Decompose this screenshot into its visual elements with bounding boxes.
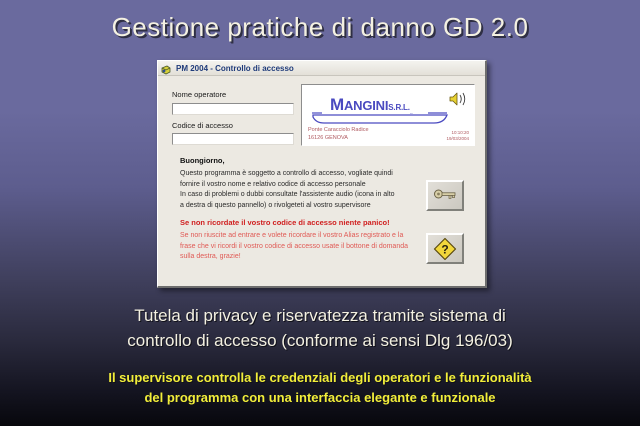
app-icon bbox=[161, 63, 172, 74]
company-logo-text: MANGINIS.R.L.... bbox=[330, 95, 412, 115]
logo-tiny: ... bbox=[410, 110, 413, 115]
access-code-input[interactable] bbox=[172, 133, 294, 145]
clock-date: 19/03/2004 bbox=[446, 136, 469, 142]
address-line-1: Ponte Caracciolo Radice bbox=[308, 127, 369, 134]
caption-sub-line-2: del programma con una interfaccia elegan… bbox=[0, 388, 640, 408]
login-key-button[interactable] bbox=[426, 180, 464, 211]
logo-main: ANGINI bbox=[344, 98, 388, 113]
access-code-label: Codice di accesso bbox=[172, 121, 294, 130]
slide-caption-primary: Tutela di privacy e riservatezza tramite… bbox=[0, 304, 640, 353]
dialog-title-text: PM 2004 - Controllo di accesso bbox=[176, 64, 294, 73]
dialog-titlebar[interactable]: PM 2004 - Controllo di accesso bbox=[158, 61, 485, 76]
operator-name-input[interactable] bbox=[172, 103, 294, 115]
dialog-body: Nome operatore Codice di accesso MANGINI… bbox=[158, 76, 485, 285]
company-address: Ponte Caracciolo Radice 16126 GENOVA bbox=[308, 127, 369, 142]
caption-sub-line-1: Il supervisore controlla le credenziali … bbox=[0, 368, 640, 388]
credentials-form: Nome operatore Codice di accesso bbox=[172, 90, 294, 151]
caption-main-line-2: controllo di accesso (conforme ai sensi … bbox=[0, 329, 640, 354]
clock-display: 10:10:20 19/03/2004 bbox=[446, 130, 469, 142]
forgot-code-warning-block: Se non ricordate il vostro codice di acc… bbox=[180, 218, 430, 263]
warning-line-3: sulla destra, grazie! bbox=[180, 252, 430, 263]
help-question-button[interactable]: ? bbox=[426, 233, 464, 264]
svg-text:?: ? bbox=[441, 242, 448, 256]
key-icon bbox=[433, 187, 457, 205]
info-line-3: In caso di problemi o dubbi consultate l… bbox=[180, 190, 428, 201]
warning-line-2: frase che vi ricordi il vostro codice di… bbox=[180, 242, 430, 253]
info-line-4: a destra di questo pannello) o rivolgete… bbox=[180, 201, 428, 212]
slide-headline: Gestione pratiche di danno GD 2.0 bbox=[0, 12, 640, 43]
info-line-2: fornire il vostro nome e relativo codice… bbox=[180, 180, 428, 191]
warning-line-1: Se non riuscite ad entrare e volete rico… bbox=[180, 231, 430, 242]
slide-caption-secondary: Il supervisore controlla le credenziali … bbox=[0, 368, 640, 407]
company-logo-mark: MANGINIS.R.L.... bbox=[310, 93, 450, 125]
logo-initial: M bbox=[330, 95, 344, 114]
warning-body: Se non riuscite ad entrare e volete rico… bbox=[180, 231, 430, 263]
operator-name-label: Nome operatore bbox=[172, 90, 294, 99]
greeting-heading: Buongiorno, bbox=[180, 156, 428, 165]
info-line-1: Questo programma è soggetto a controllo … bbox=[180, 169, 428, 180]
greeting-info-block: Buongiorno, Questo programma è soggetto … bbox=[180, 156, 428, 211]
address-line-2: 16126 GENOVA bbox=[308, 135, 369, 142]
presentation-slide: Gestione pratiche di danno GD 2.0 PM 200… bbox=[0, 0, 640, 426]
speaker-icon[interactable] bbox=[448, 90, 468, 108]
help-question-icon: ? bbox=[433, 237, 457, 261]
company-logo-panel: MANGINIS.R.L.... Ponte Caracciolo Radice… bbox=[301, 84, 475, 146]
login-dialog-window: PM 2004 - Controllo di accesso Nome oper… bbox=[157, 60, 487, 288]
greeting-body: Questo programma è soggetto a controllo … bbox=[180, 169, 428, 211]
caption-main-line-1: Tutela di privacy e riservatezza tramite… bbox=[0, 304, 640, 329]
logo-suffix: S.R.L. bbox=[388, 103, 409, 112]
warning-heading: Se non ricordate il vostro codice di acc… bbox=[180, 218, 430, 227]
